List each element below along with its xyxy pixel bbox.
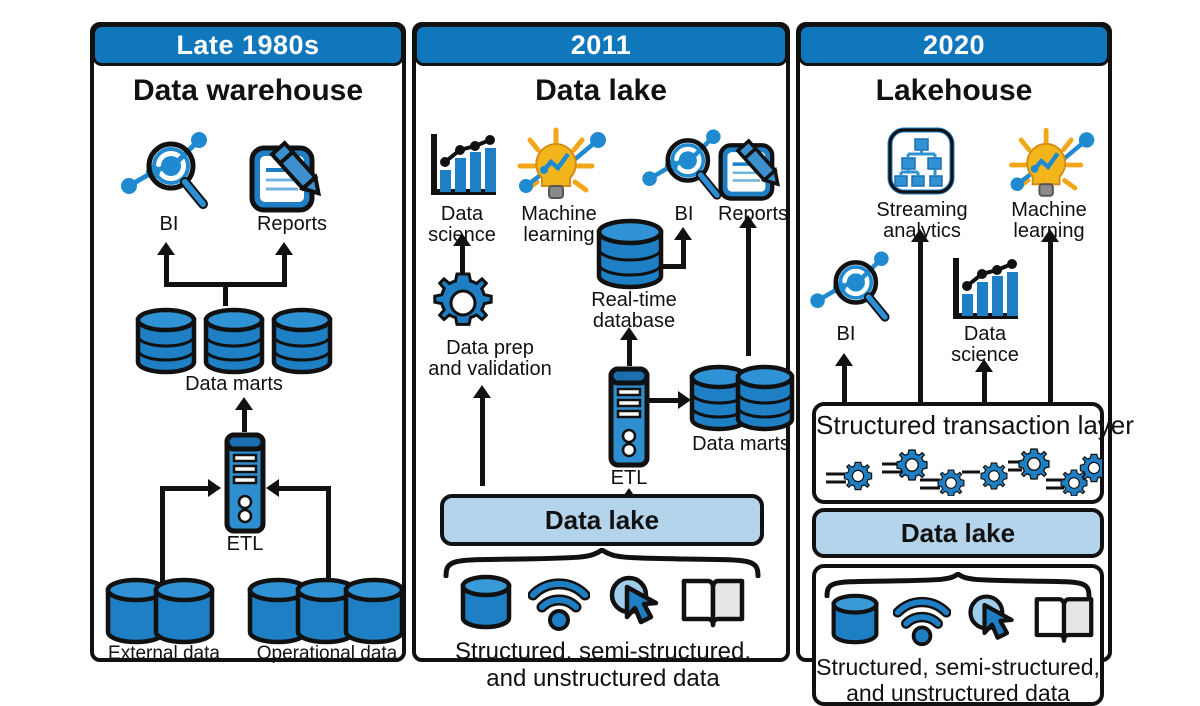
panel-era-label: 2020 (923, 30, 985, 61)
data-lake-box: Data lake (440, 494, 764, 546)
database-icon (458, 573, 514, 636)
database-cylinder (342, 576, 406, 646)
structured-transaction-layer-box: Structured transaction layer (812, 402, 1104, 504)
gear-icon (432, 272, 494, 339)
database-cylinder (734, 362, 796, 434)
sources-label: Structured, semi-structured, and unstruc… (816, 654, 1100, 706)
panel-lakehouse: 2020 Lakehouse (796, 22, 1112, 662)
bar-chart-icon (426, 130, 500, 207)
database-icon (829, 591, 881, 652)
sources-label: Structured, semi-structured, and unstruc… (420, 638, 786, 692)
bi-label: BI (818, 324, 874, 345)
document-pencil-icon (242, 126, 342, 221)
magnifier-network-icon (119, 126, 219, 221)
source-icons-row (440, 574, 764, 636)
book-icon (680, 573, 746, 636)
connector-vertical (223, 282, 228, 306)
wifi-icon (528, 573, 590, 636)
structured-transaction-layer-label: Structured transaction layer (816, 410, 1100, 441)
panel-era-header: 2020 (798, 24, 1110, 66)
sources-box: Structured, semi-structured, and unstruc… (812, 564, 1104, 706)
etl-label: ETL (592, 468, 666, 489)
panel-era-label: Late 1980s (176, 30, 319, 61)
database-cylinder (270, 306, 334, 376)
panel-data-warehouse: Late 1980s Data warehouse (90, 22, 406, 662)
database-cylinder (152, 576, 216, 646)
bi-label: BI (134, 214, 204, 235)
panel-data-lake: 2011 Data lake Data science (412, 22, 790, 662)
click-pointer-icon (963, 591, 1021, 652)
panel-body: Streaming analytics (800, 116, 1108, 658)
data-lake-label: Data lake (545, 505, 659, 536)
panel-body: Data science (416, 116, 786, 658)
panel-era-header: 2011 (414, 24, 788, 66)
panel-body: BI Reports (94, 116, 402, 658)
data-lake-label: Data lake (901, 518, 1015, 549)
book-icon (1033, 591, 1095, 652)
database-cylinder (594, 216, 666, 292)
database-cylinder (134, 306, 198, 376)
data-prep-label: Data prep and validation (408, 338, 572, 380)
operational-data-label: Operational data (240, 644, 414, 664)
panel-era-header: Late 1980s (92, 24, 404, 66)
realtime-database-label: Real-time database (576, 290, 692, 332)
source-icons-row (820, 592, 1104, 652)
data-lake-box: Data lake (812, 508, 1104, 558)
diagram-canvas: Late 1980s Data warehouse (0, 0, 1200, 675)
lightbulb-network-icon (998, 124, 1102, 211)
etl-server-icon (222, 430, 268, 541)
etl-label: ETL (204, 534, 286, 555)
click-pointer-icon (604, 573, 666, 636)
lightbulb-network-icon (506, 124, 614, 213)
external-data-label: External data (90, 644, 238, 664)
database-cylinder (202, 306, 266, 376)
page-title: Data warehouse (94, 74, 402, 108)
data-marts-label: Data marts (678, 434, 804, 455)
data-marts-label: Data marts (144, 374, 324, 395)
panel-era-label: 2011 (571, 30, 632, 61)
document-pencil-icon (712, 124, 798, 211)
page-title: Data lake (416, 74, 786, 108)
wifi-icon (893, 591, 951, 652)
gear-band (822, 446, 1094, 496)
reports-label: Reports (234, 214, 350, 235)
hierarchy-icon (886, 126, 956, 201)
bar-chart-icon (948, 254, 1022, 331)
page-title: Lakehouse (800, 74, 1108, 108)
etl-server-icon (606, 364, 652, 475)
magnifier-network-icon (808, 246, 900, 333)
